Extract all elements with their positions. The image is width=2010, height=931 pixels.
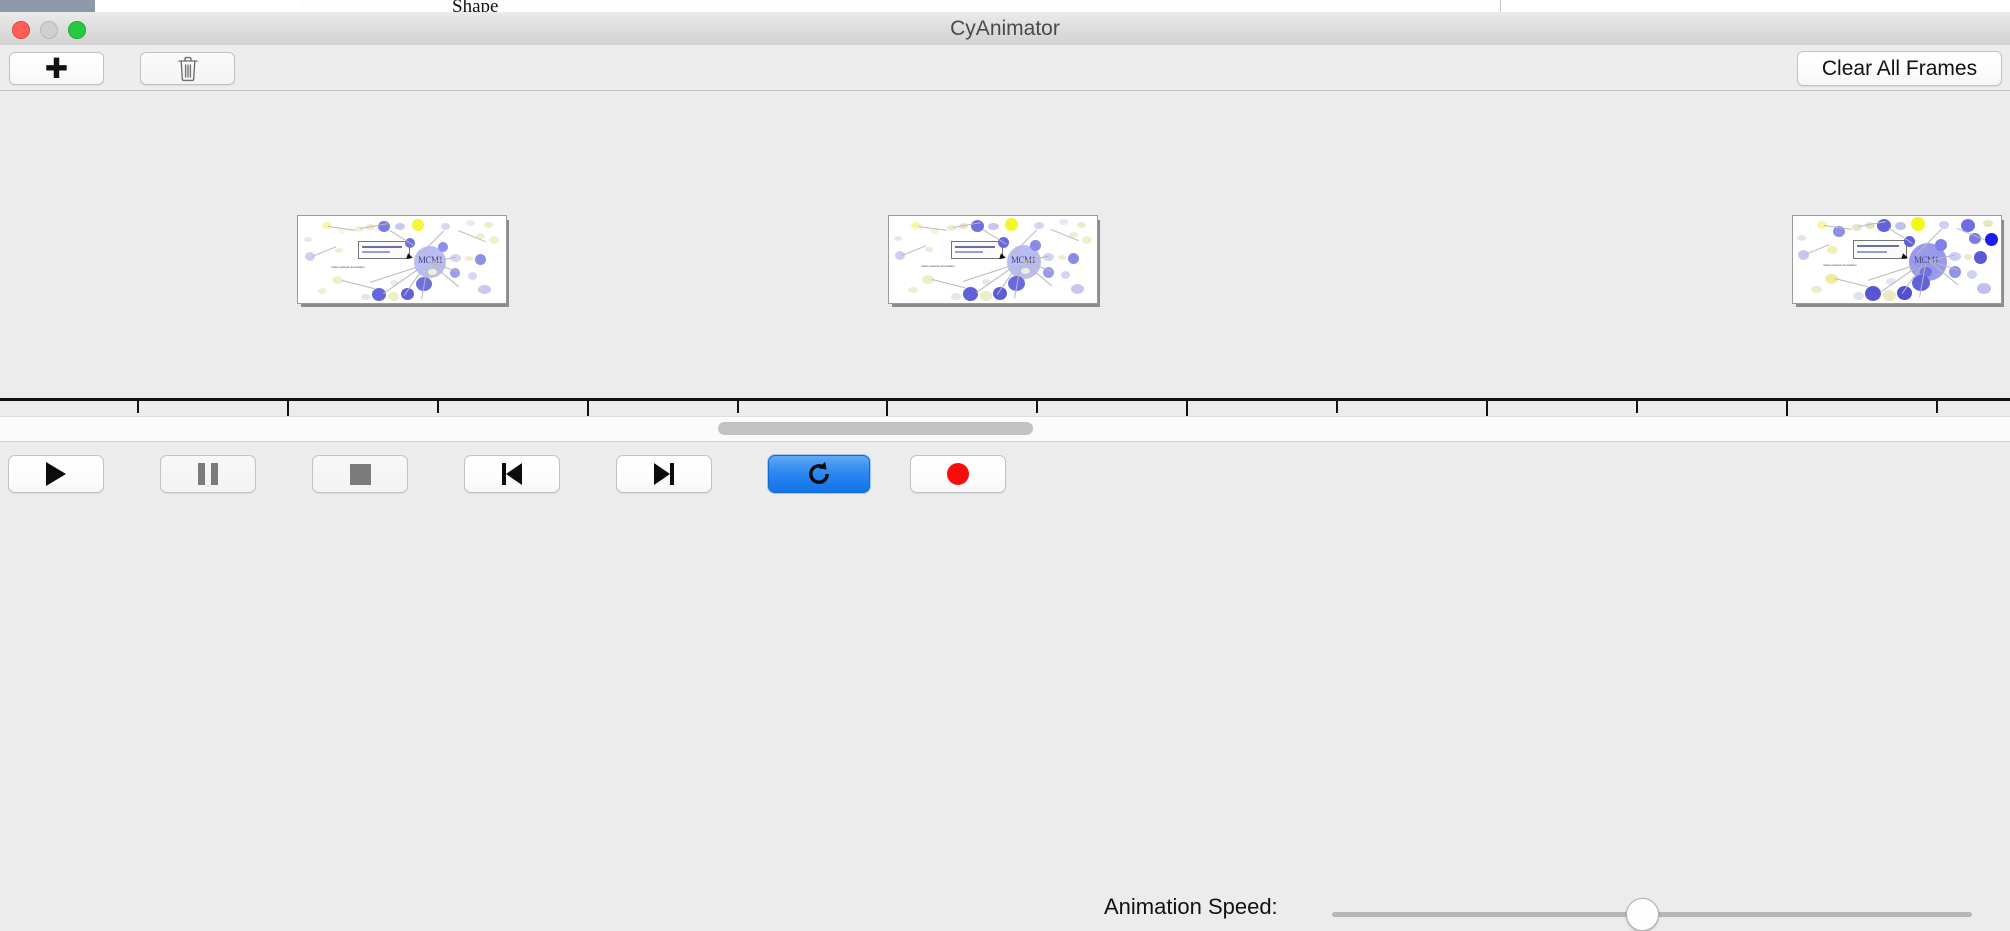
background-app-dark-block [0, 0, 95, 12]
hub-node-label: MCM1 [1914, 255, 1939, 265]
timeline-scrollbar-thumb[interactable] [718, 422, 1033, 435]
keyframe-thumbnail: MCM1 [1792, 215, 2002, 304]
play-button[interactable] [8, 455, 104, 493]
tooltip-box [951, 241, 1003, 259]
trash-icon [177, 56, 199, 82]
record-button[interactable] [910, 455, 1006, 493]
pause-button[interactable] [160, 455, 256, 493]
stop-button[interactable] [312, 455, 408, 493]
axis-minor-tick [437, 401, 439, 413]
window-title: CyAnimator [0, 12, 2010, 45]
animation-speed-slider-thumb[interactable] [1626, 898, 1659, 931]
tooltip-box [358, 241, 410, 259]
toolbar: ✚ Clear All Frames [0, 45, 2010, 91]
skip-back-icon [502, 463, 522, 485]
axis-major-tick [287, 401, 289, 416]
cyanimator-window: Shape CyAnimator ✚ Clear All Frames MCM1 [0, 0, 2010, 510]
loop-button[interactable] [768, 455, 870, 493]
axis-minor-tick [1336, 401, 1338, 413]
pause-icon [198, 463, 218, 485]
axis-minor-tick [1036, 401, 1038, 413]
tooltip-arrow [1901, 253, 1909, 261]
keyframe-thumbnail: MCM1 [888, 215, 1098, 304]
timeline-scrollbar[interactable] [0, 416, 2010, 442]
axis-minor-tick [1636, 401, 1638, 413]
keyframe-thumbnail: MCM1 [297, 215, 507, 304]
record-icon [947, 463, 969, 485]
axis-major-tick [886, 401, 888, 416]
add-frame-button[interactable]: ✚ [9, 52, 104, 85]
play-icon [46, 462, 66, 486]
playback-control-bar: Animation Speed: [0, 441, 2010, 511]
keyframe-3[interactable]: MCM1 [1792, 215, 2000, 302]
axis-minor-tick [137, 401, 139, 413]
title-bar: CyAnimator [0, 12, 2010, 46]
loop-icon [805, 460, 833, 488]
tooltip-box [1853, 240, 1907, 259]
axis-major-tick [1486, 401, 1488, 416]
keyframe-1[interactable]: MCM1 [297, 215, 505, 302]
axis-minor-tick [1936, 401, 1938, 413]
tooltip-arrow [406, 253, 414, 261]
keyframe-2[interactable]: MCM1 [888, 215, 1096, 302]
tooltip-arrow [999, 253, 1007, 261]
axis-major-tick [587, 401, 589, 416]
skip-forward-icon [654, 463, 674, 485]
clear-all-frames-button[interactable]: Clear All Frames [1797, 51, 2002, 86]
delete-frame-button[interactable] [140, 52, 235, 85]
axis-major-tick [1186, 401, 1188, 416]
previous-frame-button[interactable] [464, 455, 560, 493]
next-frame-button[interactable] [616, 455, 712, 493]
axis-major-tick [1786, 401, 1788, 416]
timeline-axis [0, 398, 2010, 401]
stop-icon [350, 464, 371, 485]
axis-minor-tick [737, 401, 739, 413]
timeline-panel[interactable]: MCM1 [0, 91, 2010, 416]
animation-speed-label: Animation Speed: [1104, 894, 1278, 920]
